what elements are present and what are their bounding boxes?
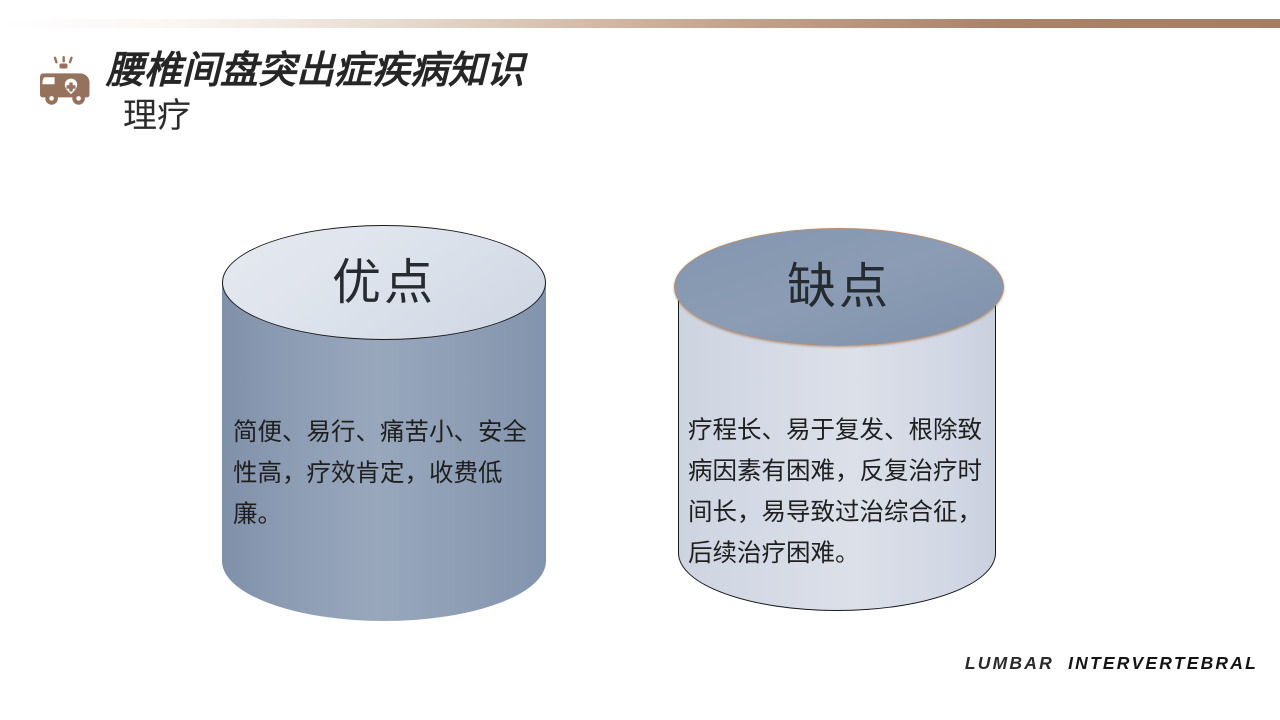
page-title: 腰椎间盘突出症疾病知识 (106, 48, 524, 94)
footer-brand: LUMBAR INTERVERTEBRAL (965, 651, 1258, 675)
cylinder-pros: 优点 简便、易行、痛苦小、安全性高，疗效肯定，收费低廉。 (222, 225, 546, 625)
footer-word-intervertebral: INTERVERTEBRAL (1068, 653, 1258, 673)
cylinder-pros-label: 优点 (222, 259, 546, 308)
slide-header: 腰椎间盘突出症疾病知识 理疗 (0, 44, 1280, 144)
cylinder-cons: 疗程长、易于复发、根除致病因素有困难，反复治疗时间长，易导致过治综合征，后续治疗… (674, 228, 1004, 613)
cylinder-cons-text: 疗程长、易于复发、根除致病因素有困难，反复治疗时间长，易导致过治综合征，后续治疗… (688, 410, 992, 574)
cylinder-pros-text: 简便、易行、痛苦小、安全性高，疗效肯定，收费低廉。 (233, 412, 539, 535)
top-accent-bar (0, 19, 1280, 28)
page-subtitle: 理疗 (123, 96, 191, 138)
slide-canvas: 腰椎间盘突出症疾病知识 理疗 优点 简便、易行、痛苦小、安全性高，疗效肯定，收费… (0, 0, 1280, 720)
ambulance-icon (33, 56, 95, 106)
footer-word-lumbar: LUMBAR (965, 653, 1054, 673)
cylinder-cons-label: 缺点 (674, 263, 1004, 312)
